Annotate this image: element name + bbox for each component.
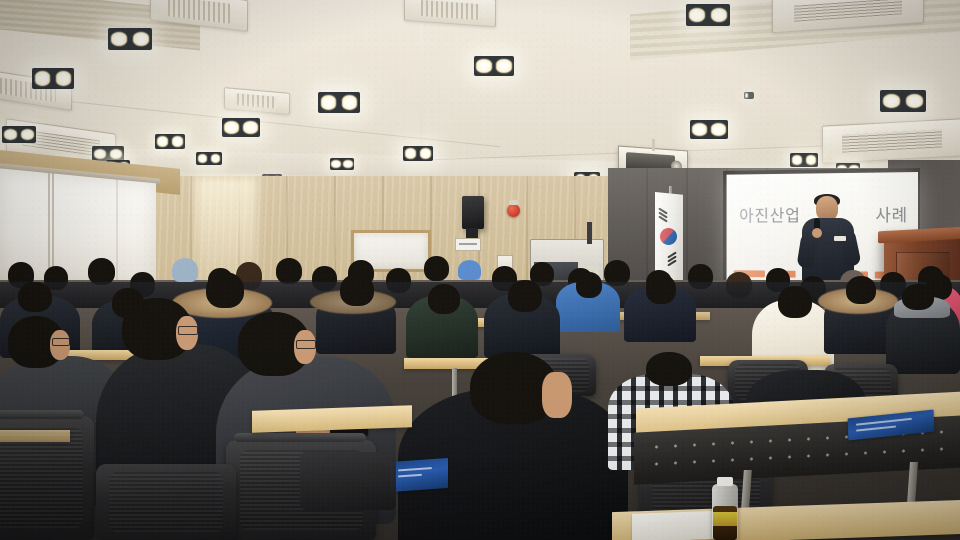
ceiling-downlight <box>686 4 730 26</box>
wall-speaker <box>462 196 484 229</box>
audience-head <box>18 282 52 312</box>
ceiling-downlight <box>403 146 433 161</box>
audience-head <box>778 286 812 318</box>
audience-head <box>646 352 692 386</box>
ceiling-sprinkler-light <box>744 92 754 99</box>
ceiling-downlight <box>318 92 360 113</box>
audience-head <box>508 280 542 312</box>
ceiling-downlight <box>32 68 74 89</box>
ceiling-downlight <box>222 118 260 137</box>
blue-brochure[interactable] <box>390 458 448 492</box>
audience-head <box>646 274 676 304</box>
audience-face <box>542 372 572 418</box>
fire-alarm-bell-icon <box>507 204 520 217</box>
eyeglasses <box>178 326 198 335</box>
audience-head <box>424 256 449 281</box>
ceiling-air-vent <box>224 87 290 115</box>
ceiling-downlight <box>196 152 222 165</box>
audience-head <box>276 258 302 284</box>
ceiling-downlight <box>108 28 152 50</box>
ceiling-downlight <box>474 56 514 76</box>
audience-head <box>340 274 374 306</box>
audience-head <box>206 272 244 308</box>
ceiling-downlight <box>2 126 36 143</box>
ceiling-downlight <box>690 120 728 139</box>
ceiling-ac-cassette <box>822 118 960 163</box>
shoulder-bag[interactable] <box>300 452 396 510</box>
eyeglasses <box>52 338 70 346</box>
lecture-hall-photo: 아진산업 사례 <box>0 0 960 540</box>
ceiling-downlight <box>880 90 926 112</box>
ceiling-joint <box>420 0 423 150</box>
plastic-drink-bottle[interactable] <box>712 484 738 540</box>
audience-head <box>846 276 876 304</box>
audience-head <box>902 284 934 310</box>
ceiling-air-vent <box>404 0 496 27</box>
audience-head-cap <box>458 260 481 280</box>
wall-sign <box>455 238 481 251</box>
audience-head <box>88 258 115 285</box>
chair[interactable] <box>96 464 236 540</box>
audience-head <box>576 272 602 298</box>
ceiling-downlight <box>790 153 818 167</box>
table-row <box>0 430 70 442</box>
audience-head <box>428 284 460 314</box>
audience-head-cap <box>172 258 198 282</box>
ceiling-downlight <box>155 134 185 149</box>
eyeglasses <box>296 340 316 349</box>
ceiling-downlight <box>330 158 354 170</box>
